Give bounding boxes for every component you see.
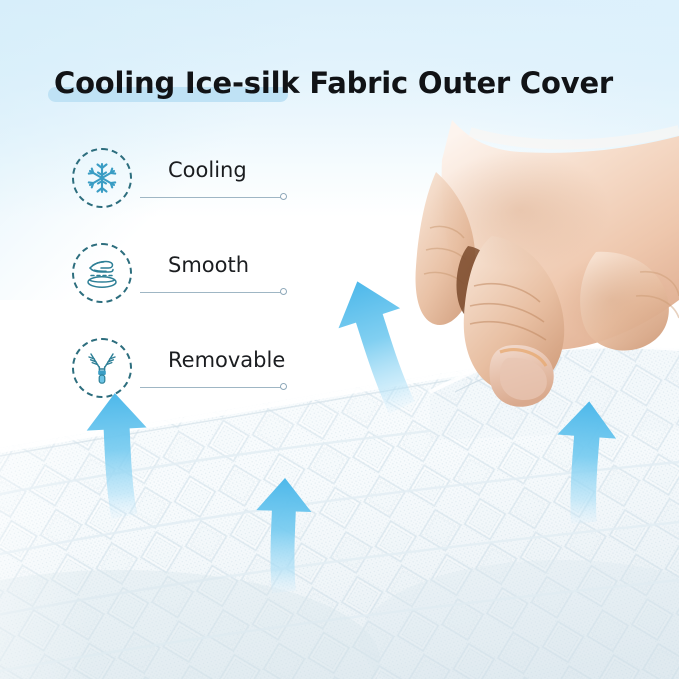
airflow-arrow-right (551, 399, 618, 526)
snowflake-icon (85, 161, 119, 195)
feature-label-cooling: Cooling (168, 158, 247, 182)
hand-glide-icon (83, 256, 121, 290)
feature-label-removable: Removable (168, 348, 285, 372)
feature-rule-removable (140, 387, 282, 388)
page-title: Cooling Ice-silk Fabric Outer Cover (54, 60, 613, 106)
feature-rule-dot-smooth (280, 288, 287, 295)
feature-rule-cooling (140, 197, 282, 198)
airflow-arrow-center-low (253, 477, 312, 595)
feature-item-cooling: Cooling (72, 148, 372, 222)
feature-rule-dot-removable (280, 383, 287, 390)
title-text: Cooling Ice-silk Fabric Outer Cover (54, 66, 613, 100)
feature-badge-smooth (72, 243, 132, 303)
title-highlighted-part: Cooling Ice-silk (54, 66, 299, 100)
title-rest-part: Fabric Outer Cover (299, 66, 613, 100)
feature-item-removable: Removable (72, 338, 372, 412)
feature-badge-cooling (72, 148, 132, 208)
product-feature-banner: Cooling Ice-silk Fabric Outer Cover (0, 0, 679, 679)
feature-item-smooth: Smooth (72, 243, 372, 317)
feature-label-smooth: Smooth (168, 253, 249, 277)
feature-badge-removable (72, 338, 132, 398)
feature-rule-smooth (140, 292, 282, 293)
zipper-icon (86, 350, 118, 386)
feature-rule-dot-cooling (280, 193, 287, 200)
